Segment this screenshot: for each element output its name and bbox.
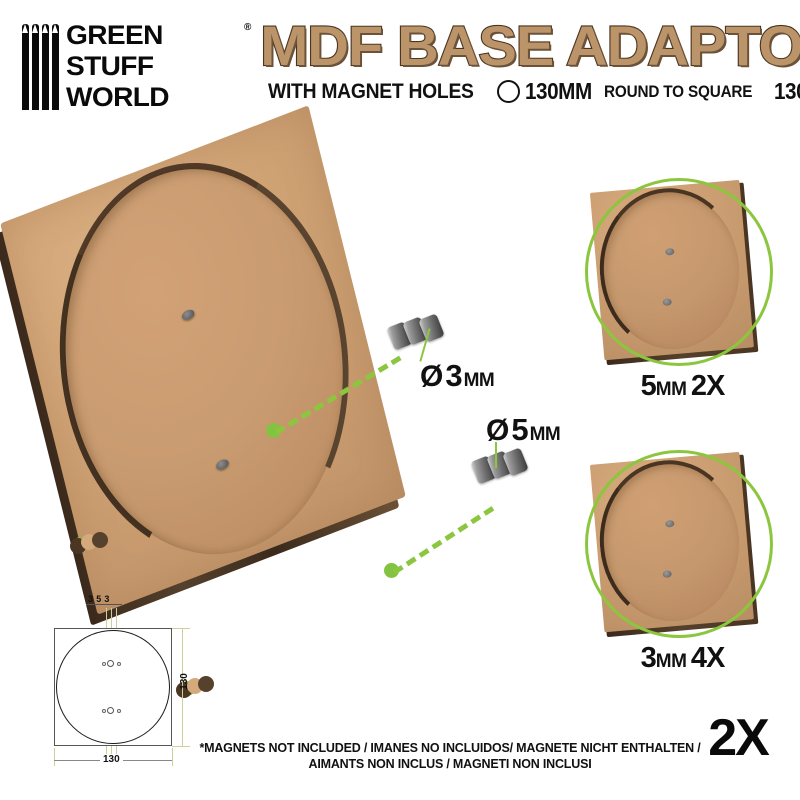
width-dimension-label: 130 [100,754,123,765]
circle-outline [56,630,170,744]
registered-mark: ® [244,22,251,33]
mdf-base-render [0,105,406,614]
hero-product-image: Ø 3 MM Ø 5 MM [8,140,568,610]
callout-line [393,506,495,574]
height-dimension-tick [172,746,190,747]
brand-line-2: STUFF [66,51,230,82]
diameter-value: 5 [511,412,527,448]
diameter-callout-5mm: Ø 5 MM [486,412,560,448]
brand-logo: GREEN STUFF WORLD ® [22,20,222,116]
disclaimer-line-1: *MAGNETS NOT INCLUDED / IMANES NO INCLUI… [195,740,705,756]
diameter-symbol: Ø [486,414,509,448]
brand-line-1: GREEN [66,20,230,51]
hole-spacing-underline [86,604,122,605]
subtitle-prefix: WITH MAGNET HOLES [268,80,474,104]
diameter-symbol: Ø [420,360,443,394]
diameter-callout-3mm: Ø 3 MM [420,358,494,394]
panel-count: 2X [691,370,724,402]
width-dimension-tick [172,748,173,766]
disclaimer-line-2: AIMANTS NON INCLUS / MAGNETI NON INCLUSI [195,756,705,772]
brush-bristles-icon [22,24,60,110]
height-dimension-tick [172,628,190,629]
highlight-circle [585,178,773,366]
panel-size-unit: MM [656,651,687,672]
product-label-page: GREEN STUFF WORLD ® MDF BASE ADAPTORS WI… [0,0,800,800]
magnet-illustration-3mm [390,316,448,350]
round-size-label: 130MM [525,78,592,105]
panel-size-value: 3 [641,642,656,674]
drawing-magnet-hole [107,707,114,714]
magnet-illustration-5mm [474,450,532,484]
panel-caption: 3MM 4X [575,642,790,675]
subtitle-middle: ROUND TO SQUARE [604,82,752,102]
panel-count: 4X [691,642,724,674]
diameter-unit: MM [464,370,495,392]
diameter-unit: MM [530,424,561,446]
brand-line-3: WORLD [66,82,230,113]
magnet-stack-small [70,532,120,554]
panel-size-value: 5 [641,370,656,402]
panel-size-unit: MM [656,379,687,400]
header: GREEN STUFF WORLD ® MDF BASE ADAPTORS WI… [0,0,800,130]
disclaimer-text: *MAGNETS NOT INCLUDED / IMANES NO INCLUI… [195,740,705,772]
subtitle: WITH MAGNET HOLES 130MM ROUND TO SQUARE … [268,78,786,105]
highlight-circle [585,450,773,638]
quantity-badge: 2X [690,712,786,764]
drawing-small-hole [117,709,121,713]
mdf-top-face [0,105,406,614]
drawing-small-hole [117,662,121,666]
diameter-value: 3 [445,358,461,394]
width-dimension-tick [54,748,55,766]
drawing-magnet-hole [107,660,114,667]
circle-icon [497,80,520,103]
brand-name: GREEN STUFF WORLD ® [66,20,224,113]
panel-caption: 5MM 2X [575,370,790,403]
drawing-small-hole [102,662,106,666]
page-title: MDF BASE ADAPTORS [260,18,794,74]
hole-spacing-label: 353 [88,594,113,604]
height-dimension-label: 130 [179,673,190,690]
square-size-label: 130MM [774,78,800,105]
title-block: MDF BASE ADAPTORS WITH MAGNET HOLES 130M… [268,18,786,105]
drawing-small-hole [102,709,106,713]
